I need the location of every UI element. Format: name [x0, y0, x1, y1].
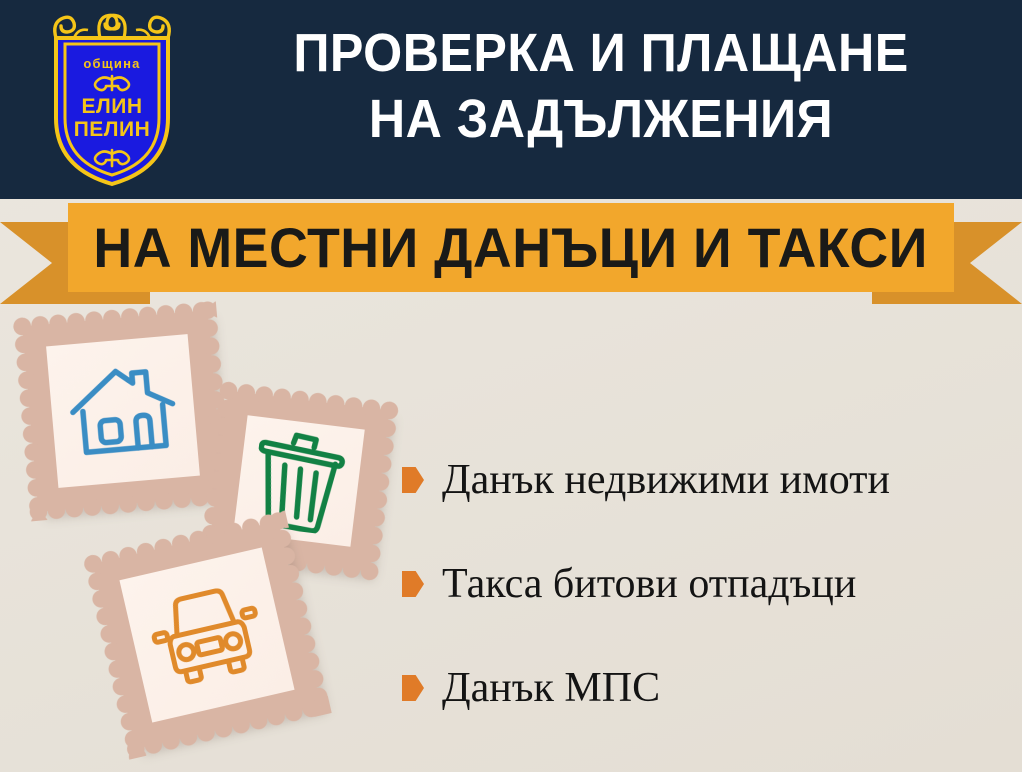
list-item-label: Данък МПС — [442, 665, 660, 711]
stamp-card-car — [93, 521, 321, 749]
title-line-2: НА ЗАДЪЛЖЕНИЯ — [224, 86, 977, 152]
coat-of-arms-icon: община ЕЛИН ПЕЛИН — [38, 8, 186, 190]
list-item-label: Такса битови отпадъци — [442, 561, 856, 607]
list-item-label: Данък недвижими имоти — [442, 457, 890, 503]
list-item[interactable]: Данък МПС — [402, 636, 1012, 740]
ribbon-label: НА МЕСТНИ ДАНЪЦИ И ТАКСИ — [94, 220, 928, 276]
house-icon — [65, 356, 181, 465]
municipality-logo: община ЕЛИН ПЕЛИН — [38, 8, 186, 190]
logo-text-obshtina: община — [83, 56, 140, 71]
poster-root: община ЕЛИН ПЕЛИН ПРОВЕРКА И ПЛАЩАНЕ НА … — [0, 0, 1022, 772]
tax-type-list: Данък недвижими имоти Такса битови отпад… — [402, 428, 1012, 740]
stamp-card-house — [22, 310, 224, 512]
stamp-paper-car — [119, 547, 294, 722]
ribbon-band: НА МЕСТНИ ДАНЪЦИ И ТАКСИ — [68, 203, 954, 292]
title-line-1: ПРОВЕРКА И ПЛАЩАНЕ — [224, 20, 977, 86]
ribbon-banner: НА МЕСТНИ ДАНЪЦИ И ТАКСИ — [0, 200, 1022, 304]
list-item[interactable]: Такса битови отпадъци — [402, 532, 1012, 636]
arrow-bullet-icon — [402, 467, 424, 493]
stamp-paper-house — [46, 334, 200, 488]
logo-text-pelin: ПЕЛИН — [74, 118, 151, 141]
arrow-bullet-icon — [402, 675, 424, 701]
list-item[interactable]: Данък недвижими имоти — [402, 428, 1012, 532]
logo-text-elin: ЕЛИН — [81, 95, 142, 118]
page-title: ПРОВЕРКА И ПЛАЩАНЕ НА ЗАДЪЛЖЕНИЯ — [196, 20, 1006, 152]
arrow-bullet-icon — [402, 571, 424, 597]
car-front-icon — [143, 578, 271, 692]
